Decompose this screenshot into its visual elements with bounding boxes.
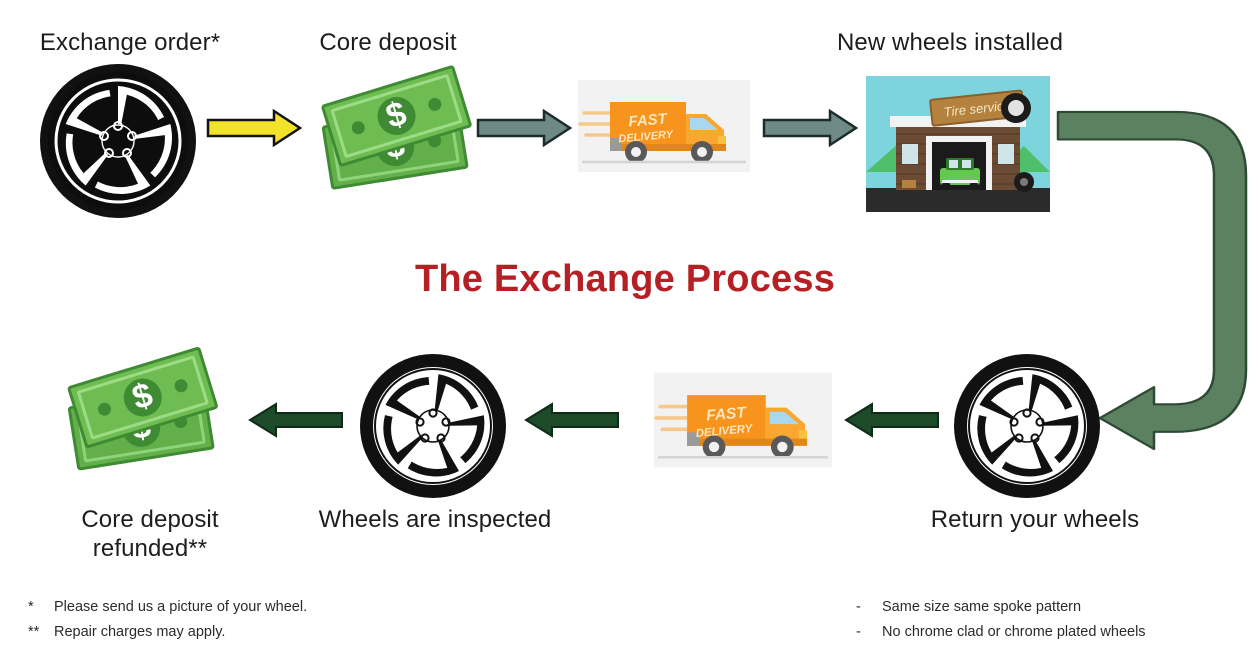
- money-icon: $ $: [312, 72, 478, 208]
- exchange-process-diagram: Exchange order* Core deposit New wheels …: [0, 0, 1250, 666]
- arrow-order-to-deposit: [206, 108, 302, 148]
- money-icon: $ $: [58, 352, 234, 488]
- footnote-text: Same size same spoke pattern: [882, 595, 1081, 620]
- step-label-wheels-inspected: Wheels are inspected: [300, 505, 570, 534]
- footnote-mark: -: [856, 595, 882, 620]
- footnote-mark: **: [28, 620, 54, 645]
- step-label-exchange-order: Exchange order*: [0, 28, 260, 57]
- footnote-text: No chrome clad or chrome plated wheels: [882, 620, 1146, 645]
- arrow-shipping-to-installed: [762, 108, 858, 148]
- delivery-truck-icon: FAST DELIVERY: [654, 370, 832, 470]
- footnotes-left: * Please send us a picture of your wheel…: [28, 595, 448, 645]
- footnote-right-1: - Same size same spoke pattern: [856, 595, 1250, 620]
- step-label-core-deposit-refunded: Core deposit refunded**: [20, 505, 280, 564]
- footnote-text: Please send us a picture of your wheel.: [54, 595, 307, 620]
- arrow-shipping-to-inspected: [524, 400, 620, 440]
- step-label-core-deposit: Core deposit: [268, 28, 508, 57]
- footnote-left-2: ** Repair charges may apply.: [28, 620, 448, 645]
- footnote-mark: *: [28, 595, 54, 620]
- footnote-text: Repair charges may apply.: [54, 620, 225, 645]
- truck-text-fast: FAST: [706, 404, 748, 425]
- footnote-left-1: * Please send us a picture of your wheel…: [28, 595, 448, 620]
- arrow-inspected-to-refund: [248, 400, 344, 440]
- truck-text-fast: FAST: [628, 110, 670, 130]
- footnote-mark: -: [856, 620, 882, 645]
- footnote-right-2: - No chrome clad or chrome plated wheels: [856, 620, 1250, 645]
- delivery-truck-icon: FAST DELIVERY: [578, 80, 750, 172]
- arrow-return-to-shipping: [844, 400, 940, 440]
- arrow-deposit-to-shipping: [476, 108, 572, 148]
- wheel-light-icon: [952, 352, 1102, 500]
- footnotes-right: - Same size same spoke pattern - No chro…: [856, 595, 1250, 645]
- step-label-return-your-wheels: Return your wheels: [890, 505, 1180, 534]
- wheel-light-icon: [358, 352, 508, 500]
- page-title: The Exchange Process: [0, 258, 1250, 301]
- step-label-new-wheels-installed: New wheels installed: [790, 28, 1110, 57]
- tire-service-shop-icon: Tire service: [866, 76, 1050, 212]
- wheel-dark-icon: [38, 62, 198, 220]
